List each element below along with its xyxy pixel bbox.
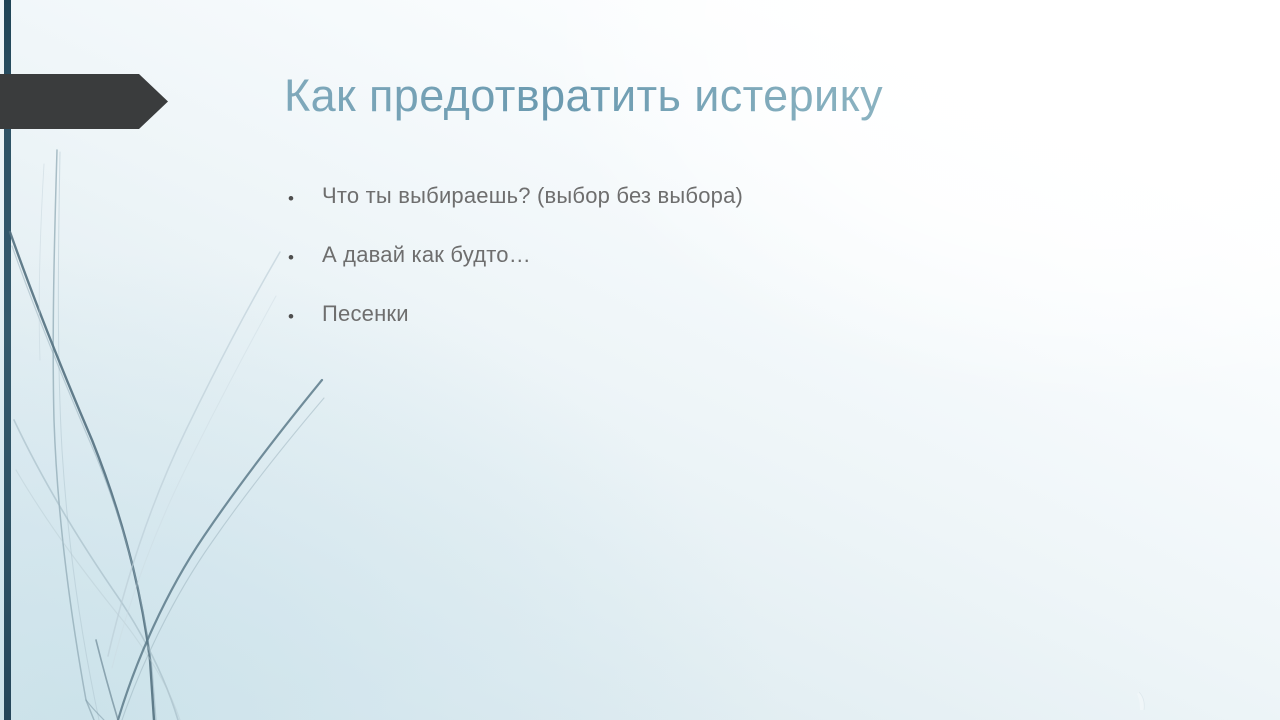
list-item: • А давай как будто… [288,241,1148,300]
bullet-text: Песенки [322,300,1148,328]
bullet-text: А давай как будто… [322,241,1148,269]
slide-canvas: Как предотвратить истерику • Что ты выби… [0,0,1280,720]
arrow-banner-shape [0,74,168,129]
bullet-list: • Что ты выбираешь? (выбор без выбора) •… [288,182,1148,359]
list-item: • Песенки [288,300,1148,359]
slide-title: Как предотвратить истерику [284,70,1184,122]
bullet-marker-icon: • [288,241,322,266]
bullet-marker-icon: • [288,300,322,325]
bullet-text: Что ты выбираешь? (выбор без выбора) [322,182,1148,210]
faint-corner-mark [1134,690,1154,714]
list-item: • Что ты выбираешь? (выбор без выбора) [288,182,1148,241]
bullet-marker-icon: • [288,182,322,207]
